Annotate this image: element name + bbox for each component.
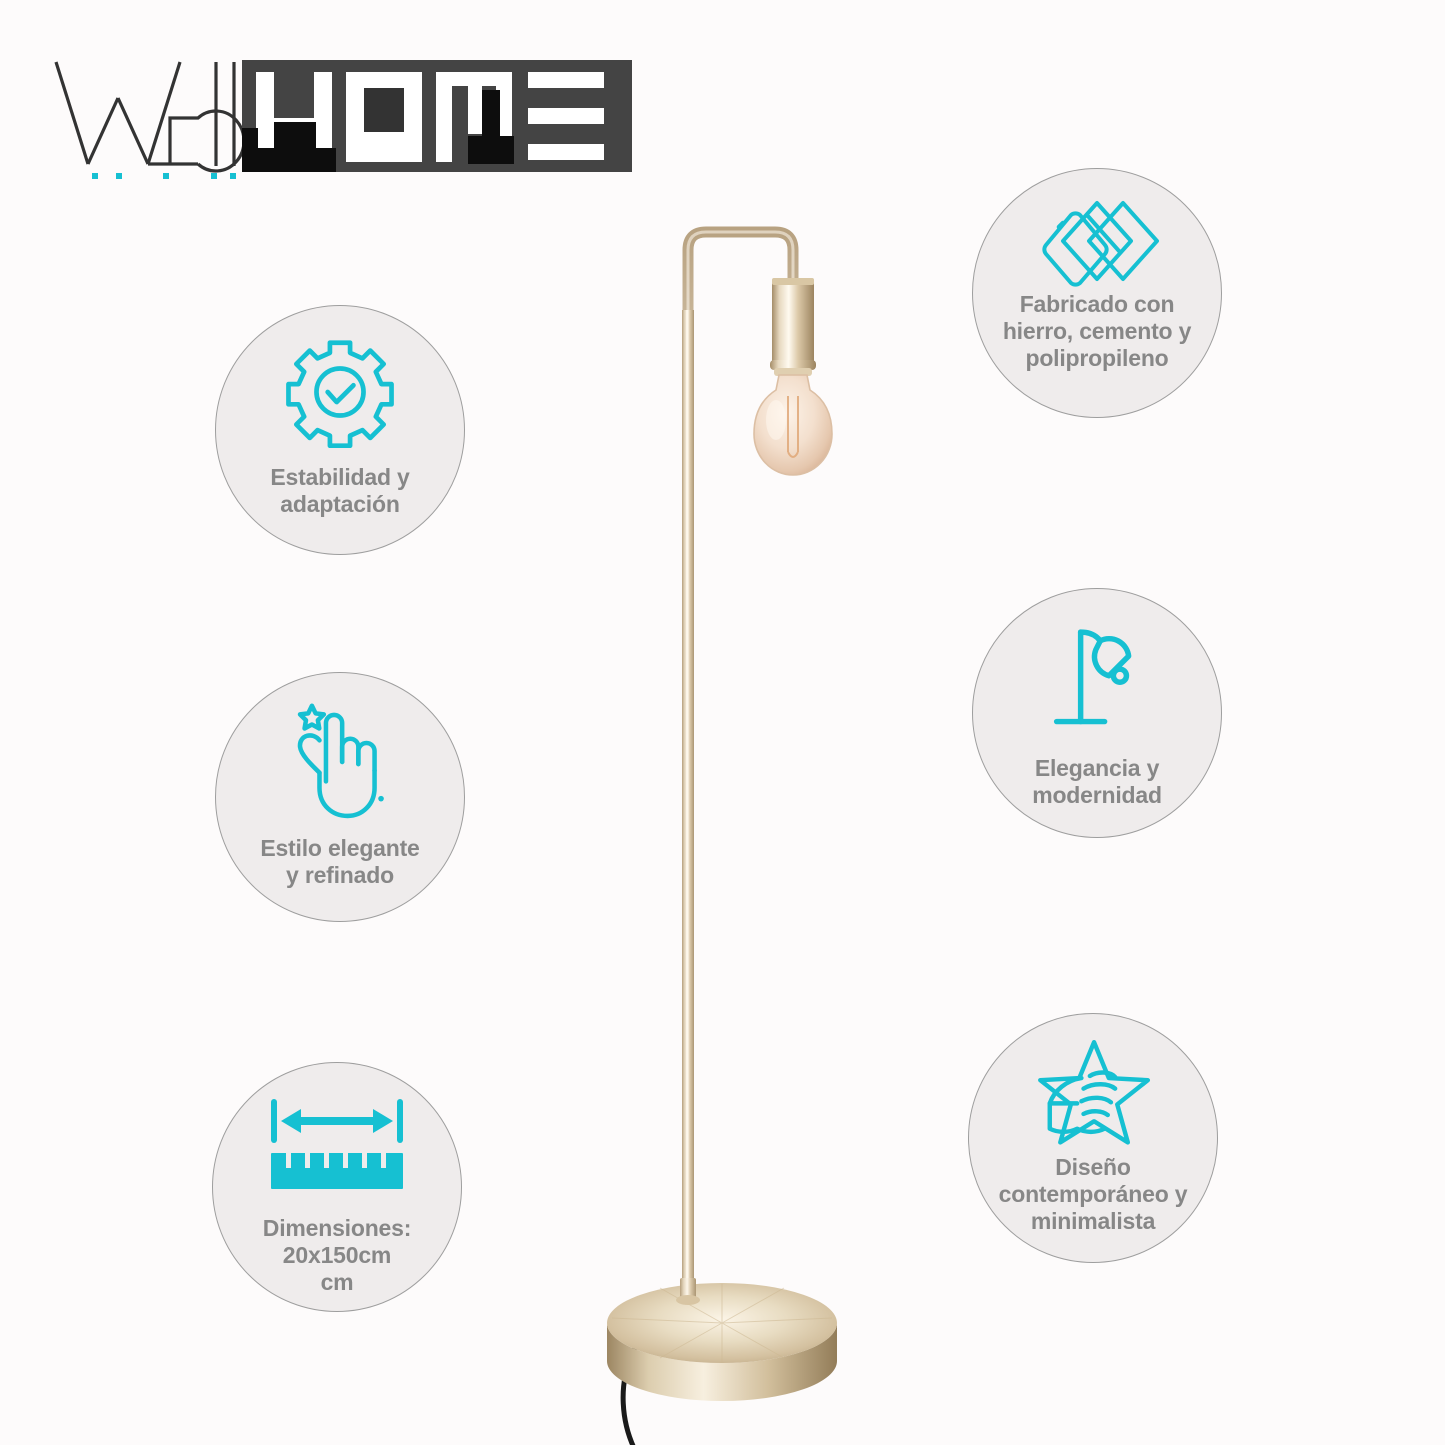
hand-star-grab-icon: [1028, 1038, 1158, 1154]
logo-accent-dots: [92, 173, 236, 179]
product-image-floor-lamp: [560, 190, 920, 1445]
infographic-canvas: Estabilidad y adaptación: [0, 0, 1445, 1445]
feature-material: Fabricado con hierro, cemento y poliprop…: [972, 168, 1222, 418]
lamp-base: [607, 1278, 837, 1401]
feature-elegance-caption: Elegancia y modernidad: [951, 755, 1243, 809]
feature-material-caption: Fabricado con hierro, cemento y poliprop…: [951, 291, 1243, 372]
feature-style-caption: Estilo elegante y refinado: [194, 835, 486, 889]
floor-lamp-icon: [1037, 619, 1157, 739]
hand-star-icon: [286, 699, 394, 827]
feature-design: Diseño contemporáneo y minimalista: [968, 1013, 1218, 1263]
feature-dimensions-caption: Dimensiones: 20x150cm cm: [191, 1215, 483, 1296]
feature-style: Estilo elegante y refinado: [215, 672, 465, 922]
feature-dimensions: Dimensiones: 20x150cm cm: [212, 1062, 462, 1312]
layered-diamonds-icon: [1031, 195, 1163, 299]
lamp-bulb: [754, 375, 832, 475]
lamp-socket: [770, 278, 816, 376]
logo-home-text: [242, 60, 632, 172]
ruler-measure-icon: [267, 1097, 407, 1193]
feature-stability: Estabilidad y adaptación: [215, 305, 465, 555]
feature-elegance: Elegancia y modernidad: [972, 588, 1222, 838]
feature-stability-caption: Estabilidad y adaptación: [194, 464, 486, 518]
brand-logo: [48, 52, 638, 182]
gear-check-icon: [284, 336, 396, 448]
feature-design-caption: Diseño contemporáneo y minimalista: [947, 1154, 1239, 1235]
lamp-pole: [682, 310, 694, 1295]
logo-well-text: [56, 62, 244, 171]
